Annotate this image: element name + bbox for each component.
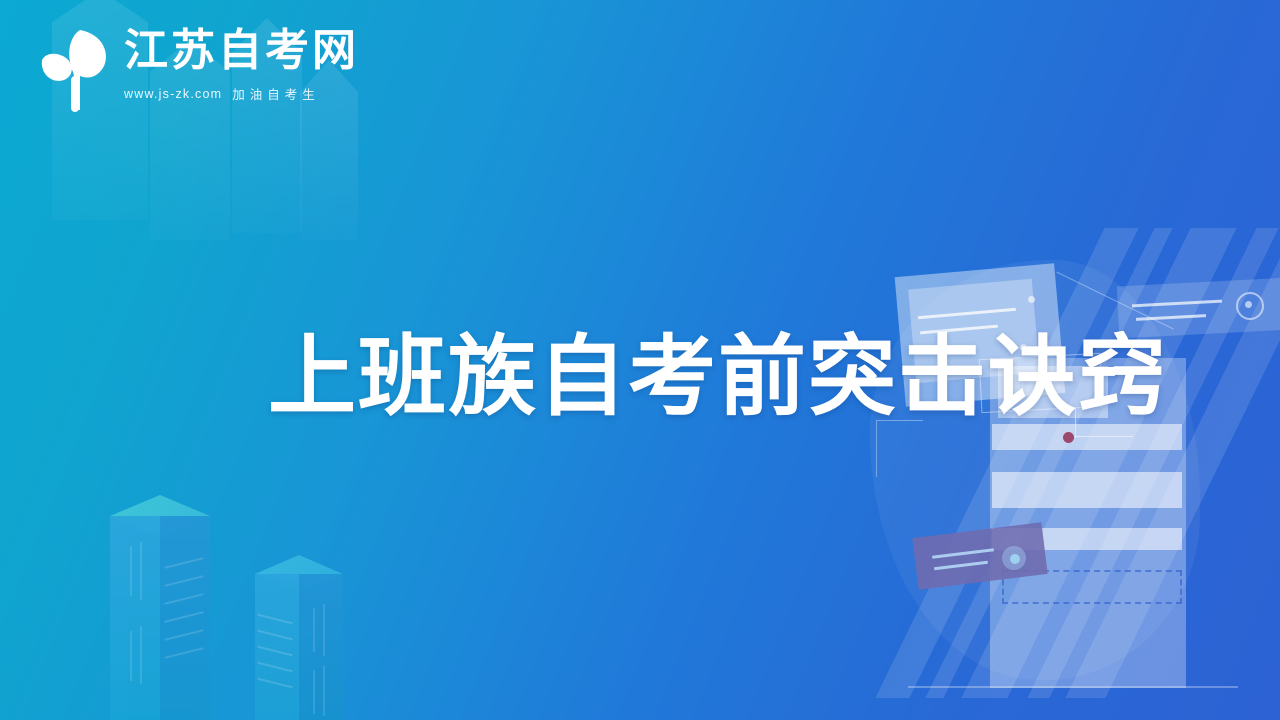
marker-dot	[1063, 432, 1074, 443]
logo-brand-text: 江苏自考网	[124, 28, 359, 74]
logo-tagline: www.js-zk.com 加油自考生	[124, 84, 359, 103]
corner-bracket	[876, 420, 923, 477]
building-right-face	[160, 516, 210, 720]
logo-url-text: www.js-zk.com	[124, 87, 222, 101]
page-title: 上班族自考前突击诀窍	[268, 332, 1168, 420]
document-text-bar	[992, 472, 1182, 508]
logo-slogan-text: 加油自考生	[232, 84, 320, 103]
isometric-building	[110, 495, 210, 720]
card-circle-dot	[1245, 301, 1252, 308]
building-left-face	[110, 516, 160, 720]
ground-line	[908, 686, 1238, 688]
purple-card-dot	[1010, 554, 1020, 564]
building-left-face	[255, 574, 299, 720]
banner-canvas: 江苏自考网 www.js-zk.com 加油自考生	[0, 0, 1280, 720]
site-logo[interactable]: 江苏自考网 www.js-zk.com 加油自考生	[30, 22, 359, 114]
document-illustration	[880, 240, 1280, 720]
sprout-icon	[30, 22, 116, 114]
building-right-face	[299, 574, 343, 720]
tablet-dot	[1028, 296, 1035, 303]
isometric-building	[255, 555, 343, 720]
connector-line	[1075, 436, 1133, 437]
